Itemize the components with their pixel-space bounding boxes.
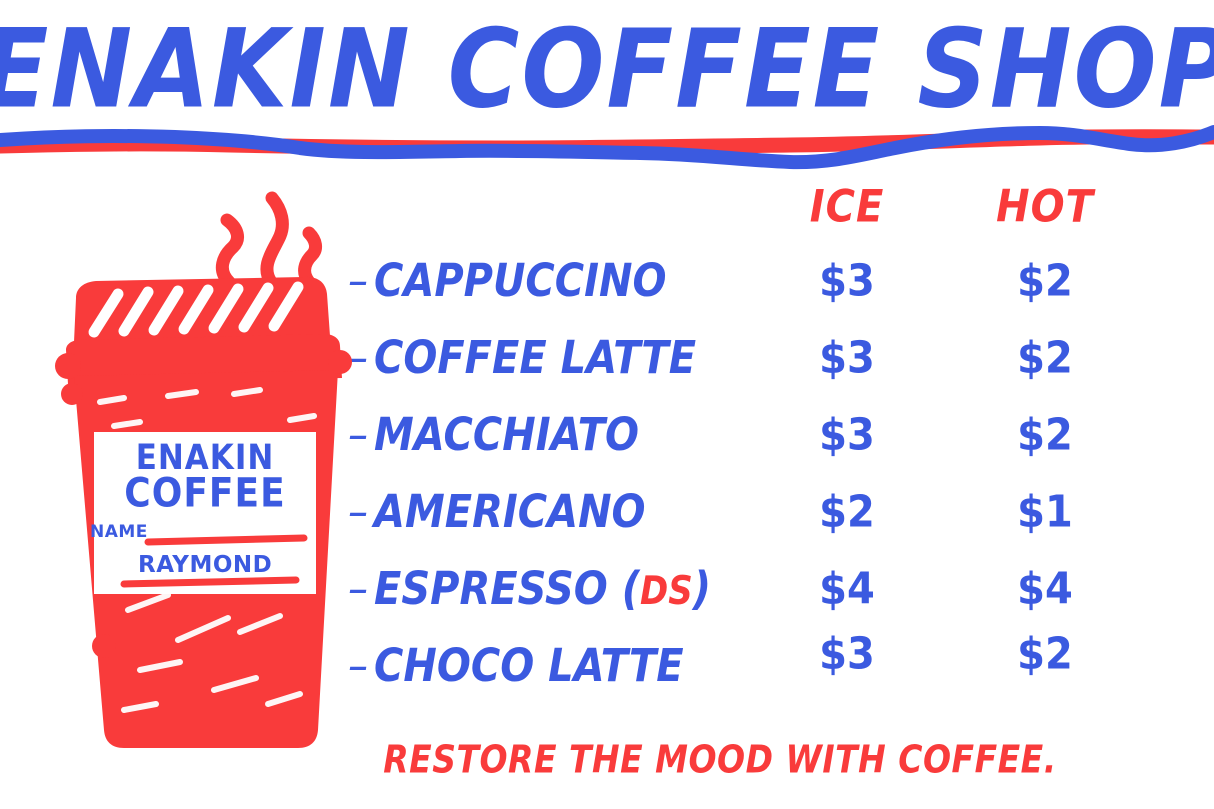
menu-item-name: AMERICANO [374, 486, 646, 538]
menu-item-name: ESPRESSO [374, 563, 608, 615]
cup-name-value: RAYMOND [138, 552, 272, 578]
menu-item-name: COFFEE LATTE [374, 332, 696, 384]
price-hot: $2 [970, 256, 1120, 307]
price-ice: $3 [772, 410, 922, 461]
price-ice: $3 [772, 256, 922, 307]
title-underline-rule [0, 118, 1214, 176]
price-ice: $3 [772, 629, 922, 680]
cup-right-knob [328, 350, 352, 374]
price-ice: $4 [772, 564, 922, 615]
menu-item-label: –MACCHIATO [348, 409, 639, 461]
menu-row[interactable]: –COFFEE LATTE $3 $2 [348, 335, 1138, 412]
coffee-menu-poster: ENAKIN COFFEE SHOP ICE HOT –CAPPUCCINO $… [0, 0, 1214, 809]
price-ice: $2 [772, 487, 922, 538]
menu-item-suffix: (DS) [608, 563, 711, 615]
price-hot: $2 [970, 333, 1120, 384]
menu-item-name: CHOCO LATTE [374, 640, 684, 692]
menu-item-label: –COFFEE LATTE [348, 332, 696, 384]
menu-item-label: –AMERICANO [348, 486, 646, 538]
column-header-ice: ICE [772, 181, 922, 233]
tagline: RESTORE THE MOOD WITH COFFEE. [340, 737, 1100, 782]
menu-item-name: CAPPUCCINO [374, 255, 667, 307]
price-hot: $1 [970, 487, 1120, 538]
cup-left-knob [55, 353, 81, 379]
menu-item-label: –ESPRESSO (DS) [348, 563, 711, 615]
menu-item-label: –CAPPUCCINO [348, 255, 667, 307]
menu-row[interactable]: –MACCHIATO $3 $2 [348, 412, 1138, 489]
menu-row[interactable]: –AMERICANO $2 $1 [348, 489, 1138, 566]
price-hot: $2 [970, 410, 1120, 461]
cup-left-knob-bottom [92, 634, 116, 658]
price-hot: $4 [970, 564, 1120, 615]
page-title: ENAKIN COFFEE SHOP [0, 16, 1214, 125]
menu-list: –CAPPUCCINO $3 $2 –COFFEE LATTE $3 $2 –M… [348, 258, 1138, 720]
menu-item-name: MACCHIATO [374, 409, 639, 461]
menu-row[interactable]: –CHOCO LATTE $3 $2 [348, 643, 1138, 720]
cup-name-label: NAME [90, 522, 148, 542]
price-ice: $3 [772, 333, 922, 384]
menu-row[interactable]: –CAPPUCCINO $3 $2 [348, 258, 1138, 335]
price-hot: $2 [970, 629, 1120, 680]
menu-item-suffix-accent: DS [640, 568, 693, 614]
menu-item-label: –CHOCO LATTE [348, 640, 684, 692]
cup-left-knob-lower [61, 383, 83, 405]
coffee-cup-illustration: ENAKIN COFFEE NAME RAYMOND [28, 170, 368, 760]
steam-icon [222, 198, 315, 282]
column-header-hot: HOT [970, 181, 1120, 233]
